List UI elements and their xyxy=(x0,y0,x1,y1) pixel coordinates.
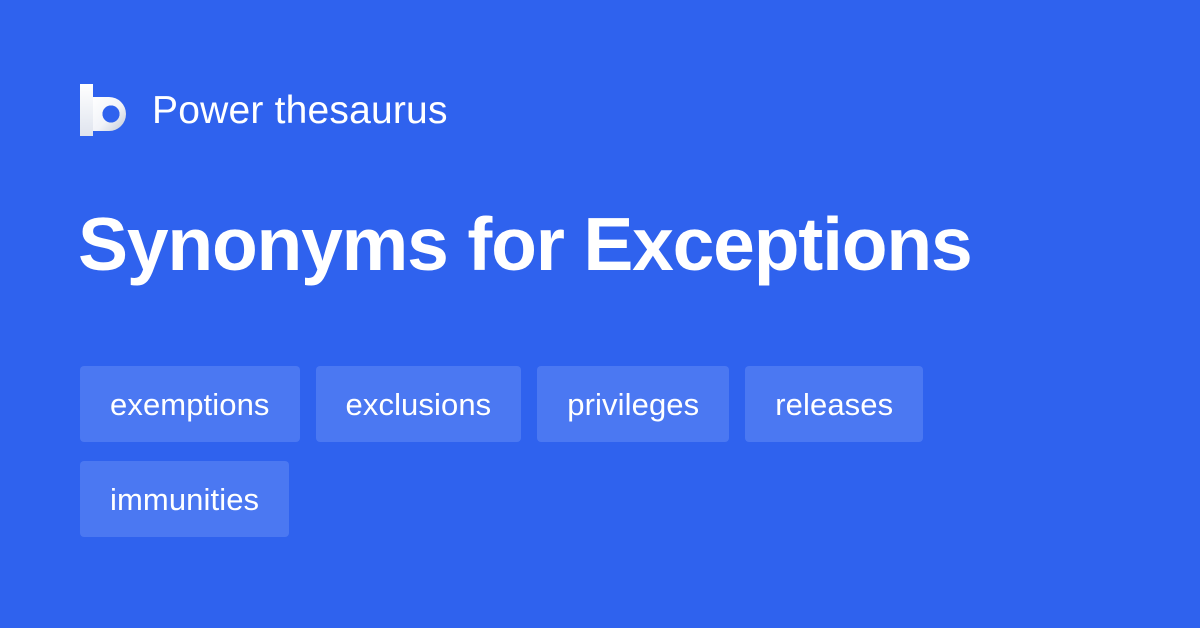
brand-header[interactable]: Power thesaurus xyxy=(80,82,448,138)
page-title: Synonyms for Exceptions xyxy=(78,196,971,292)
synonym-tag[interactable]: immunities xyxy=(80,461,289,537)
og-card: Power thesaurus Synonyms for Exceptions … xyxy=(0,0,1200,628)
brand-name: Power thesaurus xyxy=(152,91,448,130)
synonym-tag[interactable]: exclusions xyxy=(316,366,522,442)
power-thesaurus-b-logo-icon xyxy=(80,84,128,136)
synonym-tag[interactable]: releases xyxy=(745,366,923,442)
synonym-tag[interactable]: exemptions xyxy=(80,366,300,442)
synonym-tag-list: exemptions exclusions privileges release… xyxy=(80,366,1120,537)
synonym-tag[interactable]: privileges xyxy=(537,366,729,442)
